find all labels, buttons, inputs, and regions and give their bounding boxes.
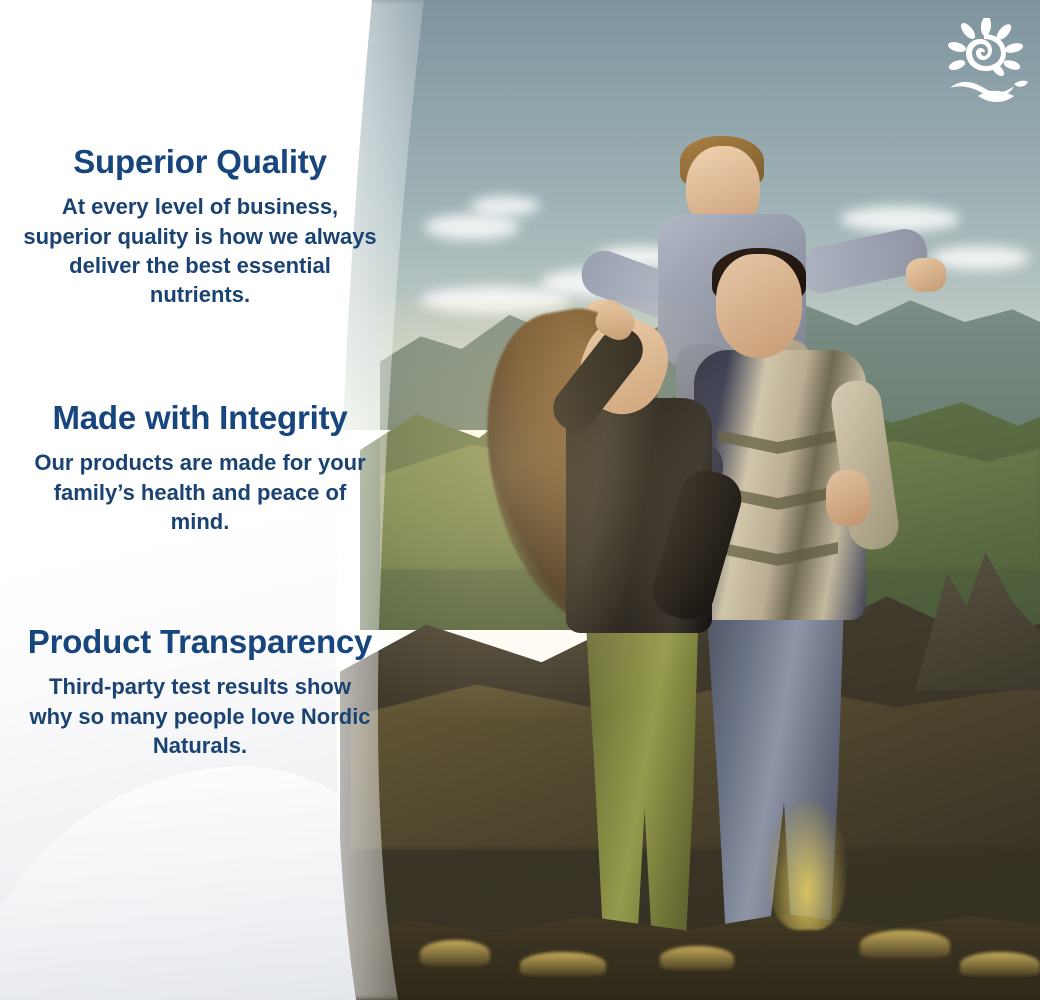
grass-tuft — [860, 930, 950, 958]
value-prop-heading: Superior Quality — [0, 142, 400, 182]
value-prop-block: Product Transparency Third-party test re… — [0, 622, 400, 760]
cloud — [420, 286, 570, 314]
shrub — [768, 800, 846, 930]
value-prop-block: Made with Integrity Our products are mad… — [0, 398, 400, 536]
grass-tuft — [420, 940, 490, 966]
value-prop-body: Our products are made for your family’s … — [0, 448, 400, 536]
value-prop-body: Third-party test results show why so man… — [0, 672, 400, 760]
value-prop-body: At every level of business, superior qua… — [0, 192, 400, 309]
value-prop-heading: Made with Integrity — [0, 398, 400, 438]
man-head — [716, 254, 802, 358]
grass-tuft — [960, 952, 1040, 976]
value-prop-block: Superior Quality At every level of busin… — [0, 142, 400, 309]
cloud — [470, 196, 540, 216]
cloud — [840, 206, 960, 232]
child-right-hand — [906, 258, 946, 292]
brand-logo — [948, 18, 1030, 104]
lifestyle-brand-banner: Superior Quality At every level of busin… — [0, 0, 1040, 1000]
value-prop-heading: Product Transparency — [0, 622, 400, 662]
man-right-hand — [826, 470, 870, 526]
sun-wave-logo-icon — [948, 18, 1028, 102]
cloud — [424, 214, 520, 240]
value-props-list: Superior Quality At every level of busin… — [0, 0, 400, 1000]
grass-tuft — [660, 946, 734, 970]
grass-tuft — [520, 952, 606, 976]
